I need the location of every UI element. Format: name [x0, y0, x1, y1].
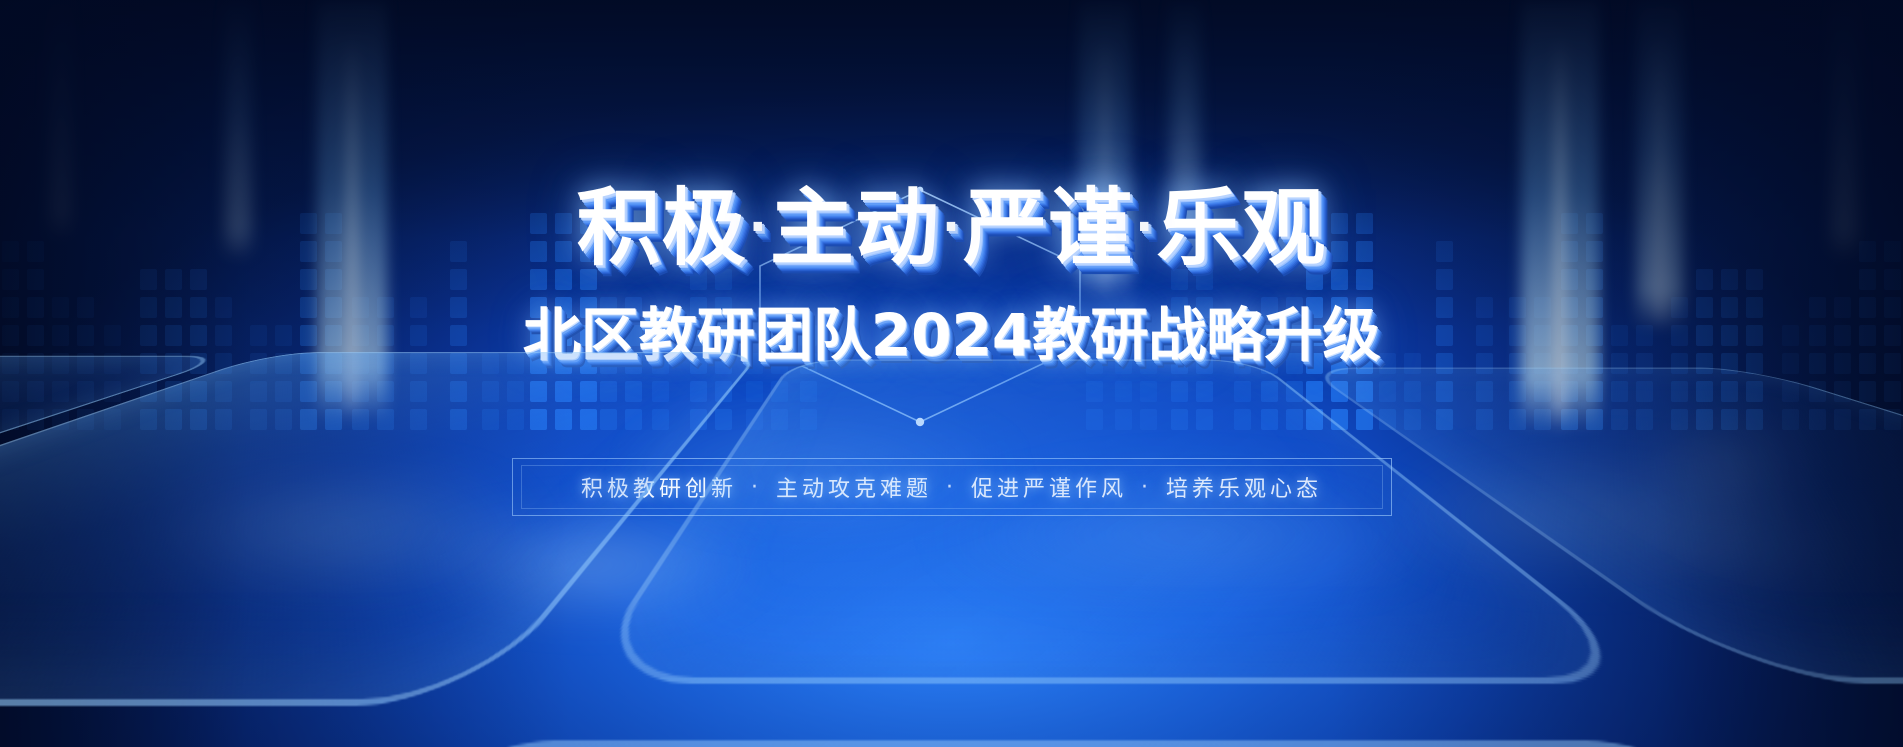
tagline-bar: 积极教研创新·主动攻克难题·促进严谨作风·培养乐观心态 — [512, 458, 1392, 516]
headline-separator: · — [942, 199, 961, 255]
headline-word: 严谨 — [963, 179, 1133, 277]
headline-word: 乐观 — [1156, 179, 1326, 277]
banner-canvas: 积极·主动·严谨·乐观 北区教研团队2024教研战略升级 积极教研创新·主动攻克… — [0, 0, 1903, 747]
tagline-separator: · — [946, 475, 957, 500]
tagline-item: 促进严谨作风 — [971, 471, 1127, 503]
headline-word: 积极 — [577, 179, 747, 277]
tagline-text: 积极教研创新·主动攻克难题·促进严谨作风·培养乐观心态 — [512, 458, 1392, 516]
banner-subline: 北区教研团队2024教研战略升级 — [0, 306, 1903, 364]
tagline-separator: · — [1141, 475, 1152, 500]
banner-headline: 积极·主动·严谨·乐观 — [0, 186, 1903, 270]
tagline-item: 培养乐观心态 — [1166, 471, 1322, 503]
tagline-item: 主动攻克难题 — [776, 471, 932, 503]
headline-word: 主动 — [770, 179, 940, 277]
headline-separator: · — [1135, 199, 1154, 255]
headline-separator: · — [749, 199, 768, 255]
tagline-separator: · — [751, 475, 762, 500]
tagline-item: 积极教研创新 — [581, 471, 737, 503]
banner-content: 积极·主动·严谨·乐观 北区教研团队2024教研战略升级 积极教研创新·主动攻克… — [0, 0, 1903, 747]
